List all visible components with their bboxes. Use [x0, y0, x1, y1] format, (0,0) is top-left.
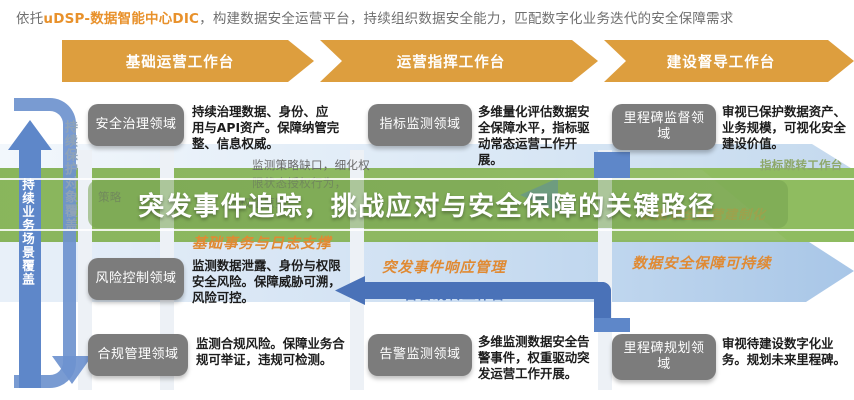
domain-copy-alert-monitoring-text: 多维监测数据安全告警事件，权重驱动突发运营工作开展。	[478, 334, 600, 382]
domain-copy-risk-control: 监测数据泄露、身份与权限安全风险。保障威胁可溯，风险可控。	[192, 258, 342, 306]
workbench-command[interactable]: 运营指挥工作台	[320, 40, 598, 82]
domain-pill-metric-monitoring[interactable]: 指标监测领域	[368, 104, 472, 146]
workbench-label: 运营指挥工作台	[397, 51, 506, 72]
pill-label: 安全治理领域	[95, 117, 176, 133]
domain-copy-milestone-supervision: 审视已保护数据资产、业务规模，可视化安全建设价值。	[722, 104, 848, 152]
domain-pill-security-governance[interactable]: 安全治理领域	[88, 104, 184, 146]
domain-copy-metric-monitoring: 多维量化评估数据安全保障水平，指标驱动常态运营工作开展。	[478, 104, 598, 169]
pill-label: 告警监测领域	[379, 347, 460, 363]
domain-pill-risk-control[interactable]: 风险控制领域	[88, 258, 184, 300]
header-rest: ，构建数据安全运营平台，持续组织数据安全能力，匹配数字化业务迭代的安全保障需求	[199, 11, 733, 27]
domain-copy-compliance-management: 监测合规风险。保障业务合规可举证，违规可检测。	[196, 336, 348, 368]
workbench-label: 建设督导工作台	[667, 51, 776, 72]
header-lead: 依托	[16, 11, 43, 27]
caption-metric-jump: 指标跳转工作台	[760, 158, 843, 173]
pill-label: 风险控制领域	[95, 271, 176, 287]
caption-incident-response: 突发事件响应管理	[382, 256, 506, 277]
workbench-row: 基础运营工作台 运营指挥工作台 建设督导工作台	[62, 40, 854, 82]
note-policy-gap: 监测策略缺口，细化权	[252, 158, 412, 173]
header-brand-prefix: uDSP-	[43, 11, 90, 27]
domain-pill-compliance-management[interactable]: 合规管理领域	[88, 334, 188, 376]
domain-pill-milestone-planning[interactable]: 里程碑规划领域	[612, 334, 716, 380]
domain-pill-alert-monitoring[interactable]: 告警监测领域	[368, 334, 472, 376]
pill-label: 指标监测领域	[379, 117, 460, 133]
header-brand: 数据智能中心DIC	[90, 11, 199, 27]
note-line-1: 监测策略缺口，细化权	[252, 158, 370, 172]
infographic-canvas: 依托uDSP-数据智能中心DIC，构建数据安全运营平台，持续组织数据安全能力，匹…	[0, 0, 854, 400]
domain-copy-security-governance: 持续治理数据、身份、应用与API资产。保障纳管完整、信息权威。	[192, 104, 340, 152]
domain-pill-milestone-supervision[interactable]: 里程碑监督领域	[612, 104, 716, 150]
caption-alert-jump: 告警跳转工作台	[404, 283, 506, 303]
overlay-rule-bottom	[0, 229, 854, 231]
arrow-riser	[594, 282, 611, 318]
pill-label: 合规管理领域	[97, 347, 178, 363]
accent-square	[594, 152, 630, 178]
header-text: 依托uDSP-数据智能中心DIC，构建数据安全运营平台，持续组织数据安全能力，匹…	[16, 7, 733, 27]
workbench-construction[interactable]: 建设督导工作台	[604, 40, 854, 82]
overlay-headline: 突发事件追踪，挑战应对与安全保障的关键路径	[0, 180, 854, 228]
workbench-basic-ops[interactable]: 基础运营工作台	[62, 40, 314, 82]
caption-data-security-sustain: 数据安全保障可持续	[632, 252, 772, 273]
domain-copy-milestone-planning: 审视待建设数字化业务。规划未来里程碑。	[722, 336, 850, 368]
pill-label: 里程碑监督领域	[618, 111, 710, 144]
arrow-head-icon	[8, 120, 52, 150]
pill-label: 里程碑规划领域	[618, 341, 710, 374]
header-strip: 依托uDSP-数据智能中心DIC，构建数据安全运营平台，持续组织数据安全能力，匹…	[0, 0, 854, 34]
caption-base-affairs: 基础事务与日志支撑	[192, 232, 332, 253]
workbench-label: 基础运营工作台	[126, 51, 235, 72]
